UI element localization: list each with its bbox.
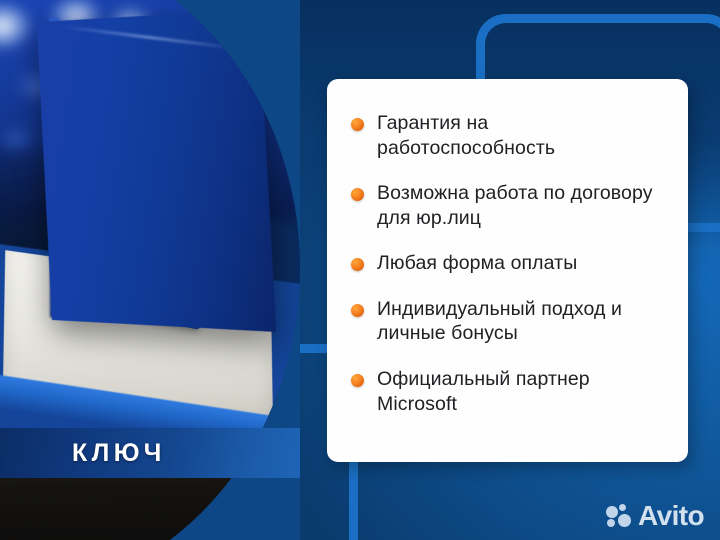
avito-logo-icon [606, 504, 632, 528]
photo-caption-band: КЛЮЧ [0, 428, 300, 478]
bullet-dot-icon [351, 258, 364, 271]
feature-item-label: Возможна работа по договору для юр.лиц [377, 181, 670, 230]
feature-item: Официальный партнер Microsoft [351, 367, 670, 416]
avito-watermark: Avito [606, 502, 704, 530]
photo-caption-label: КЛЮЧ [0, 441, 166, 466]
feature-item-label: Официальный партнер Microsoft [377, 367, 670, 416]
bullet-dot-icon [351, 374, 364, 387]
feature-item-label: Гарантия на работоспособность [377, 111, 670, 160]
feature-item: Гарантия на работоспособность [351, 111, 670, 160]
avito-wordmark: Avito [638, 502, 704, 530]
listing-image-canvas: КЛЮЧ Гарантия на работоспособность Возмо… [0, 0, 720, 540]
feature-item: Любая форма оплаты [351, 251, 670, 276]
feature-card: Гарантия на работоспособность Возможна р… [327, 79, 688, 462]
bullet-dot-icon [351, 188, 364, 201]
bullet-dot-icon [351, 118, 364, 131]
feature-item: Возможна работа по договору для юр.лиц [351, 181, 670, 230]
bullet-dot-icon [351, 304, 364, 317]
feature-item-label: Любая форма оплаты [377, 251, 577, 276]
feature-item-label: Индивидуальный подход и личные бонусы [377, 297, 670, 346]
feature-item: Индивидуальный подход и личные бонусы [351, 297, 670, 346]
